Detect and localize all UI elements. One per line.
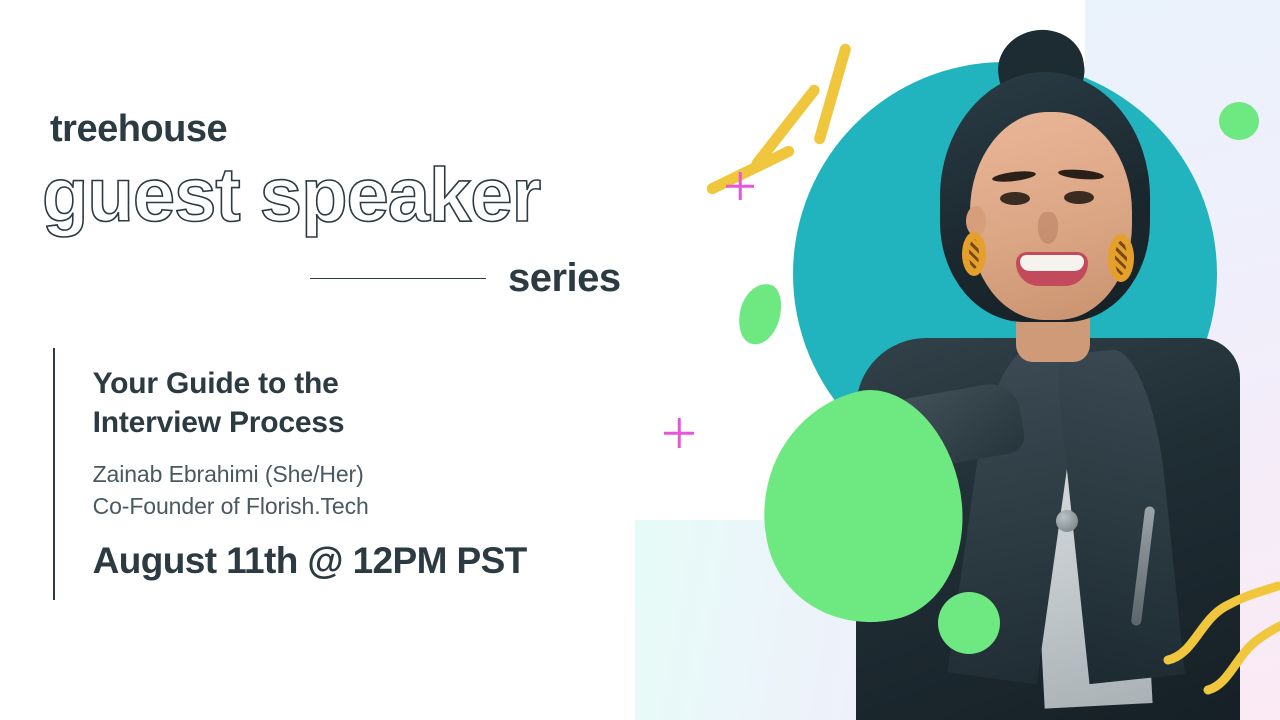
session-info-body: Your Guide to the Interview Process Zain… (55, 348, 527, 600)
eye-right (1064, 191, 1094, 204)
magenta-plus-icon-2 (664, 418, 694, 448)
series-headline-outline: guest speaker (42, 158, 540, 234)
promo-graphic: treehouse guest speaker series Your Guid… (0, 0, 1280, 720)
magenta-plus-icon-1 (726, 172, 754, 200)
eye-left (1000, 192, 1030, 205)
jacket-stud (1056, 510, 1078, 532)
talk-title: Your Guide to the Interview Process (93, 364, 527, 442)
speaker-role: Co-Founder of Florish.Tech (93, 491, 527, 523)
event-date: August 11th @ 12PM PST (93, 540, 527, 582)
hoop-earring-left (962, 232, 986, 276)
series-row: series (310, 256, 621, 301)
smile (1016, 252, 1088, 286)
brand-wordmark: treehouse (50, 108, 227, 151)
series-divider-rule (310, 278, 486, 280)
nose (1038, 212, 1058, 244)
teeth (1020, 255, 1084, 271)
session-info-block: Your Guide to the Interview Process Zain… (53, 348, 527, 600)
yellow-squiggle-lines (1160, 580, 1280, 720)
speaker-name: Zainab Ebrahimi (She/Her) (93, 459, 527, 491)
green-pill-blob (732, 279, 788, 350)
green-dot-bottom (938, 592, 1000, 654)
green-dot-top (1219, 102, 1259, 140)
talk-title-line-2: Interview Process (93, 403, 527, 442)
hoop-earring-right (1108, 234, 1134, 282)
talk-title-line-1: Your Guide to the (93, 364, 527, 403)
series-label: series (508, 256, 621, 301)
